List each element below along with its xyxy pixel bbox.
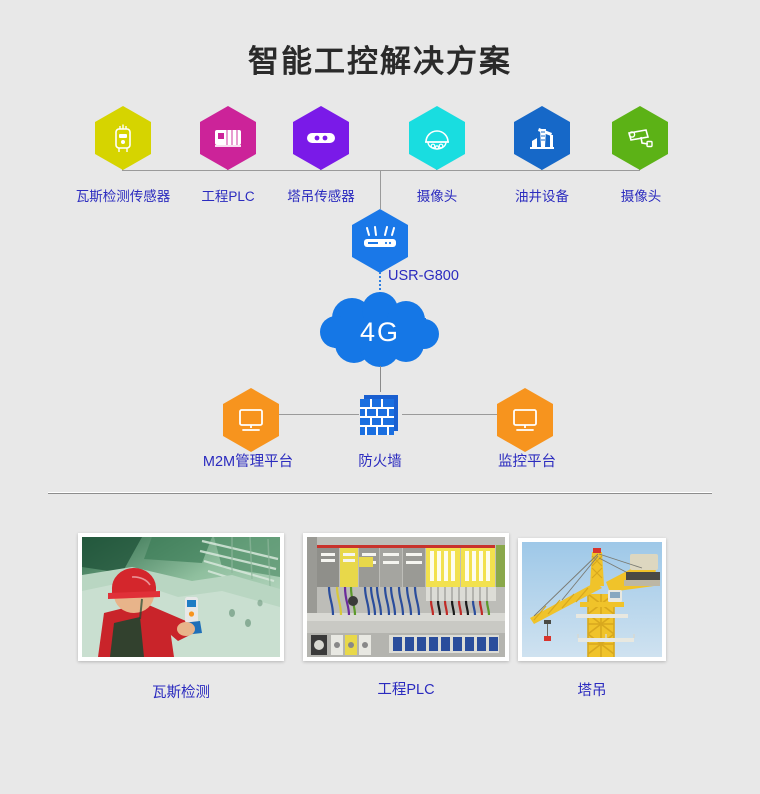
monitor-icon bbox=[510, 407, 540, 433]
firewall-to-monitor-line bbox=[402, 414, 508, 415]
router-hex-usr-g800[interactable] bbox=[352, 209, 408, 273]
tower-crane-photo bbox=[522, 542, 662, 657]
photo-caption-tower-crane: 塔吊 bbox=[518, 679, 666, 700]
platform-label-firewall: 防火墙 bbox=[325, 450, 435, 471]
photo-caption-plc: 工程PLC bbox=[303, 678, 509, 699]
device-hex-gas-sensor[interactable] bbox=[95, 106, 151, 170]
network-cloud: 4G bbox=[318, 292, 442, 372]
plc-module-icon bbox=[212, 125, 244, 151]
miner-gas-detection-photo bbox=[82, 537, 280, 657]
device-label-oil-well: 油井设备 bbox=[482, 185, 602, 205]
section-divider bbox=[48, 492, 712, 494]
plc-cabinet-scene bbox=[307, 537, 505, 657]
platform-hex-m2m[interactable] bbox=[223, 388, 279, 452]
device-label-crane-sensor: 塔吊传感器 bbox=[256, 185, 386, 205]
mine-tunnel-scene bbox=[82, 537, 280, 657]
dome-camera-icon bbox=[422, 123, 452, 153]
device-hex-bullet-camera[interactable] bbox=[612, 106, 668, 170]
photo-frame-tower-crane bbox=[518, 538, 666, 661]
plc-cabinet-photo bbox=[307, 537, 505, 657]
device-hex-crane-sensor[interactable] bbox=[293, 106, 349, 170]
tower-crane-scene bbox=[522, 542, 662, 657]
cloud-to-firewall-line bbox=[380, 366, 381, 392]
device-label-gas-sensor: 瓦斯检测传感器 bbox=[58, 185, 188, 205]
platform-label-monitor: 监控平台 bbox=[442, 450, 612, 471]
device-label-dome-camera: 摄像头 bbox=[382, 185, 492, 205]
bullet-camera-icon bbox=[624, 125, 656, 151]
platform-label-m2m: M2M管理平台 bbox=[163, 450, 333, 471]
device-hex-plc[interactable] bbox=[200, 106, 256, 170]
router-label: USR-G800 bbox=[388, 268, 498, 284]
crane-sensor-icon bbox=[305, 128, 337, 148]
photo-frame-gas-detection bbox=[78, 533, 284, 661]
device-label-bullet-camera: 摄像头 bbox=[586, 185, 696, 205]
photo-caption-gas-detection: 瓦斯检测 bbox=[78, 681, 284, 702]
device-hex-oil-well[interactable] bbox=[514, 106, 570, 170]
firewall-icon bbox=[358, 391, 402, 437]
platform-hex-monitor[interactable] bbox=[497, 388, 553, 452]
platform-firewall[interactable] bbox=[358, 391, 402, 437]
photo-frame-plc bbox=[303, 533, 509, 661]
oil-pump-icon bbox=[526, 123, 558, 153]
cloud-label: 4G bbox=[318, 292, 442, 372]
device-hex-dome-camera[interactable] bbox=[409, 106, 465, 170]
gas-detector-icon bbox=[109, 122, 137, 154]
page-title: 智能工控解决方案 bbox=[0, 36, 760, 81]
monitor-icon bbox=[236, 407, 266, 433]
wifi-router-icon bbox=[360, 226, 400, 256]
